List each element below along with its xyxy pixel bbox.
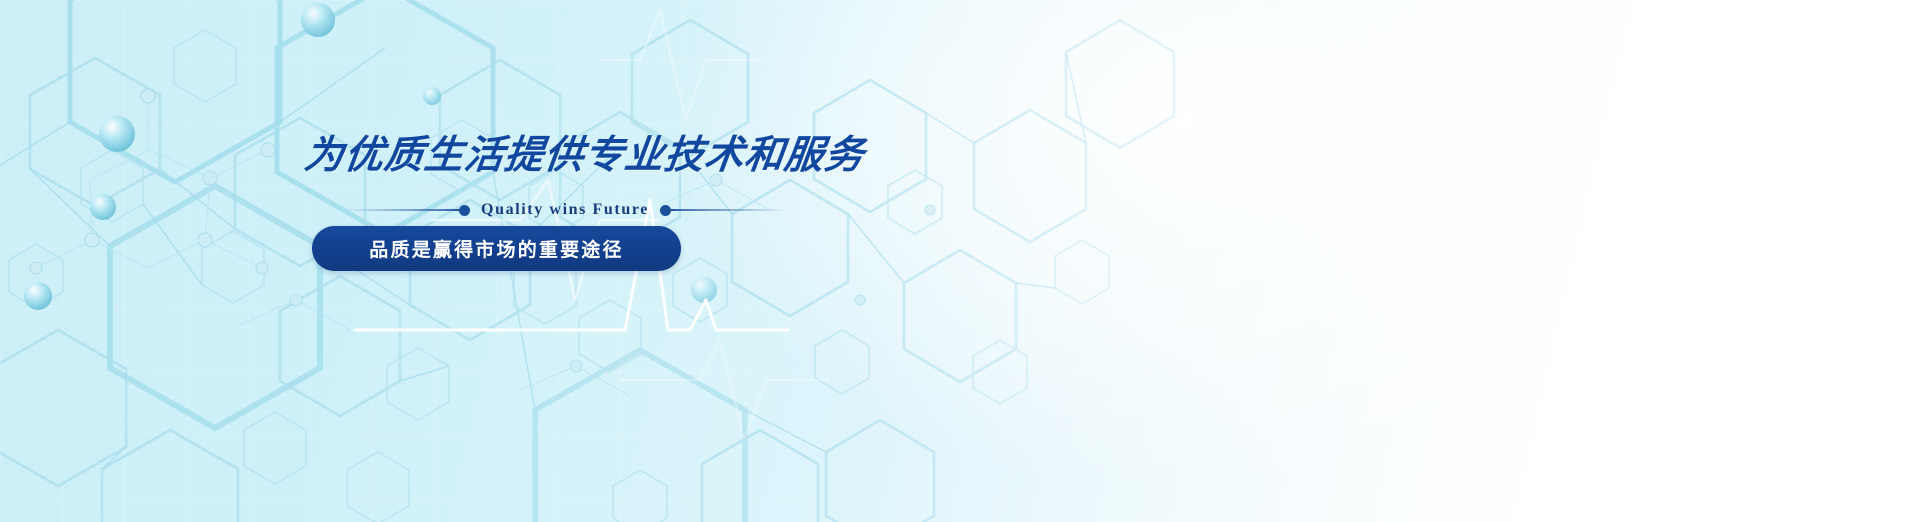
- divider-dot-right: [660, 205, 671, 216]
- divider-line-left: [345, 209, 459, 211]
- page-title: 为优质生活提供专业技术和服务: [302, 124, 869, 180]
- banner-content: 为优质生活提供专业技术和服务 Quality wins Future 品质是赢得…: [0, 0, 1920, 522]
- slogan-pill[interactable]: 品质是赢得市场的重要途径: [312, 226, 681, 271]
- slogan-pill-label: 品质是赢得市场的重要途径: [369, 235, 623, 262]
- tagline-divider: Quality wins Future: [345, 201, 785, 219]
- divider-line-right: [671, 209, 785, 211]
- hero-banner: 为优质生活提供专业技术和服务 Quality wins Future 品质是赢得…: [0, 0, 1920, 522]
- divider-dot-left: [459, 205, 470, 216]
- tagline-text: Quality wins Future: [470, 201, 660, 219]
